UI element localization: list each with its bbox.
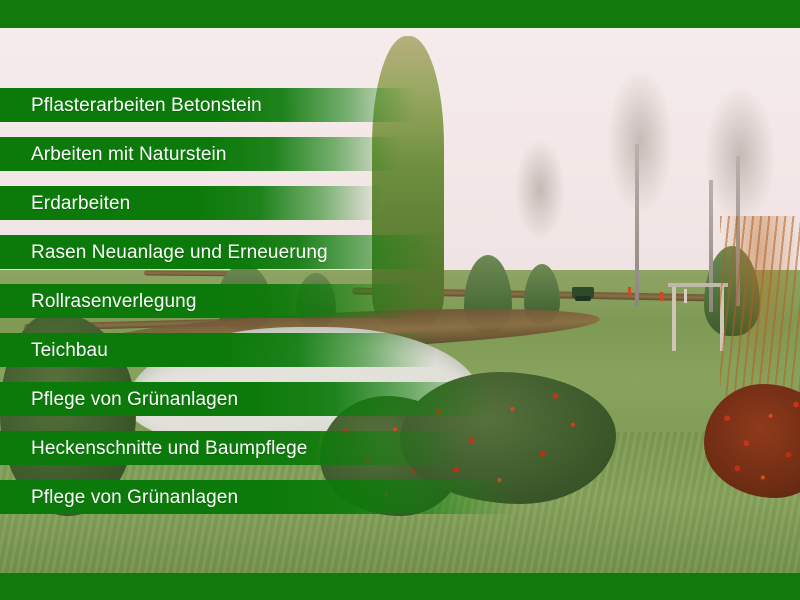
service-bar-label: Pflasterarbeiten Betonstein — [0, 96, 262, 115]
frame-border-bottom — [0, 573, 800, 600]
service-bar-label: Arbeiten mit Naturstein — [0, 145, 227, 164]
frame-border-top — [0, 0, 800, 28]
service-bar-label: Rollrasenverlegung — [0, 292, 197, 311]
service-bar-label: Pflege von Grünanlagen — [0, 390, 238, 409]
service-bar[interactable]: Pflege von Grünanlagen — [0, 382, 490, 416]
service-bar[interactable]: Rollrasenverlegung — [0, 284, 420, 318]
service-bar-label: Heckenschnitte und Baumpflege — [0, 439, 307, 458]
service-bar[interactable]: Teichbau — [0, 333, 436, 367]
service-bar[interactable]: Arbeiten mit Naturstein — [0, 137, 400, 171]
service-bar[interactable]: Heckenschnitte und Baumpflege — [0, 431, 462, 465]
service-list: Pflasterarbeiten BetonsteinArbeiten mit … — [0, 0, 800, 600]
service-bar[interactable]: Pflasterarbeiten Betonstein — [0, 88, 415, 122]
slide-canvas: Pflasterarbeiten BetonsteinArbeiten mit … — [0, 0, 800, 600]
service-bar-label: Erdarbeiten — [0, 194, 130, 213]
service-bar-label: Rasen Neuanlage und Erneuerung — [0, 243, 328, 262]
service-bar[interactable]: Erdarbeiten — [0, 186, 382, 220]
service-bar[interactable]: Pflege von Grünanlagen — [0, 480, 516, 514]
service-bar[interactable]: Rasen Neuanlage und Erneuerung — [0, 235, 440, 269]
service-bar-label: Pflege von Grünanlagen — [0, 488, 238, 507]
service-bar-label: Teichbau — [0, 341, 108, 360]
